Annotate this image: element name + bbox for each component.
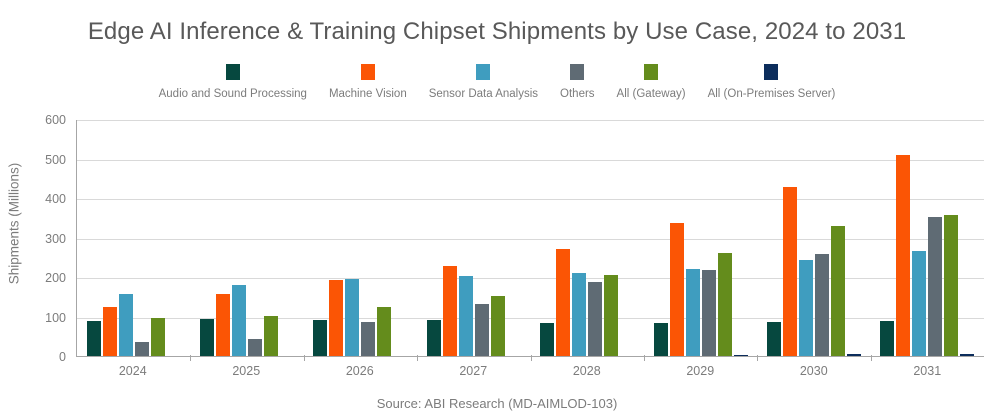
bar-group: [757, 120, 870, 356]
bar[interactable]: [604, 275, 618, 356]
chart-title: Edge AI Inference & Training Chipset Shi…: [0, 18, 994, 46]
bar[interactable]: [491, 296, 505, 356]
x-axis-tick-labels: 20242025202620272028202920302031: [76, 364, 984, 378]
bar-group: [644, 120, 757, 356]
x-axis-tick-label: 2026: [303, 364, 417, 378]
bar[interactable]: [216, 294, 230, 356]
bar-group: [190, 120, 303, 356]
bar[interactable]: [896, 155, 910, 356]
bar-spacer: [620, 355, 634, 356]
y-axis-tick-label: 300: [45, 232, 66, 246]
bar[interactable]: [135, 342, 149, 356]
bar[interactable]: [572, 273, 586, 356]
bar-group: [304, 120, 417, 356]
bar[interactable]: [443, 266, 457, 356]
plot-area: [76, 120, 984, 357]
x-axis-tick-label: 2031: [871, 364, 985, 378]
bar[interactable]: [459, 276, 473, 356]
y-axis-tick-label: 200: [45, 271, 66, 285]
legend-label: Machine Vision: [329, 88, 407, 100]
legend-item[interactable]: All (On-Premises Server): [697, 64, 847, 100]
bar-spacer: [280, 355, 294, 356]
legend-swatch-icon: [764, 64, 778, 80]
bar[interactable]: [248, 339, 262, 356]
legend-item[interactable]: Others: [549, 64, 606, 100]
bar[interactable]: [87, 321, 101, 356]
chart-legend: Audio and Sound ProcessingMachine Vision…: [0, 64, 994, 100]
bar[interactable]: [119, 294, 133, 356]
bar[interactable]: [734, 355, 748, 356]
bar-spacer: [167, 355, 181, 356]
legend-label: All (On-Premises Server): [708, 88, 836, 100]
legend-swatch-icon: [226, 64, 240, 80]
legend-item[interactable]: Audio and Sound Processing: [148, 64, 318, 100]
bar[interactable]: [264, 316, 278, 356]
bar-spacer: [393, 355, 407, 356]
bar[interactable]: [329, 280, 343, 356]
x-axis-tick-label: 2029: [644, 364, 758, 378]
bar[interactable]: [928, 217, 942, 356]
bar[interactable]: [475, 304, 489, 356]
legend-item[interactable]: All (Gateway): [606, 64, 697, 100]
bar[interactable]: [847, 354, 861, 356]
bar[interactable]: [831, 226, 845, 356]
legend-swatch-icon: [644, 64, 658, 80]
bar[interactable]: [702, 270, 716, 357]
x-axis-tick-label: 2030: [757, 364, 871, 378]
bar[interactable]: [232, 285, 246, 356]
legend-swatch-icon: [361, 64, 375, 80]
bar[interactable]: [880, 321, 894, 356]
y-axis-tick-label: 100: [45, 311, 66, 325]
legend-label: Sensor Data Analysis: [429, 88, 538, 100]
y-axis-tick-label: 600: [45, 113, 66, 127]
bar[interactable]: [912, 251, 926, 356]
bar-group: [531, 120, 644, 356]
bar[interactable]: [540, 323, 554, 356]
legend-label: All (Gateway): [617, 88, 686, 100]
bar[interactable]: [345, 279, 359, 356]
source-note: Source: ABI Research (MD-AIMLOD-103): [0, 396, 994, 411]
bar[interactable]: [361, 322, 375, 356]
y-axis-tick-label: 400: [45, 192, 66, 206]
bar[interactable]: [815, 254, 829, 356]
bar[interactable]: [427, 320, 441, 356]
bar[interactable]: [103, 307, 117, 356]
bar-group: [871, 120, 984, 356]
bar[interactable]: [313, 320, 327, 356]
bar[interactable]: [377, 307, 391, 356]
bar[interactable]: [767, 322, 781, 356]
x-axis-tick-label: 2027: [417, 364, 531, 378]
plot-wrapper: Shipments (Millions) 0100200300400500600…: [0, 112, 994, 362]
bar[interactable]: [654, 323, 668, 356]
bar[interactable]: [670, 223, 684, 357]
bar[interactable]: [200, 319, 214, 356]
bar[interactable]: [686, 269, 700, 356]
x-axis-tick-label: 2028: [530, 364, 644, 378]
bar-spacer: [507, 355, 521, 356]
legend-label: Audio and Sound Processing: [159, 88, 307, 100]
bar[interactable]: [588, 282, 602, 356]
bar[interactable]: [799, 260, 813, 356]
legend-label: Others: [560, 88, 595, 100]
chart-figure: Edge AI Inference & Training Chipset Shi…: [0, 0, 994, 420]
bar[interactable]: [960, 354, 974, 356]
legend-swatch-icon: [570, 64, 584, 80]
legend-item[interactable]: Machine Vision: [318, 64, 418, 100]
y-axis-tick-label: 0: [59, 350, 66, 364]
bar[interactable]: [556, 249, 570, 356]
bars-layer: [77, 120, 984, 356]
bar[interactable]: [151, 318, 165, 356]
bar-group: [417, 120, 530, 356]
bar-group: [77, 120, 190, 356]
bar[interactable]: [783, 187, 797, 356]
y-axis-tick-labels: 0100200300400500600: [30, 112, 66, 357]
legend-swatch-icon: [476, 64, 490, 80]
x-axis-tick-label: 2025: [190, 364, 304, 378]
x-axis-tick-label: 2024: [76, 364, 190, 378]
bar[interactable]: [944, 215, 958, 356]
legend-item[interactable]: Sensor Data Analysis: [418, 64, 549, 100]
y-axis-tick-label: 500: [45, 153, 66, 167]
y-axis-title: Shipments (Millions): [7, 114, 22, 334]
bar[interactable]: [718, 253, 732, 356]
